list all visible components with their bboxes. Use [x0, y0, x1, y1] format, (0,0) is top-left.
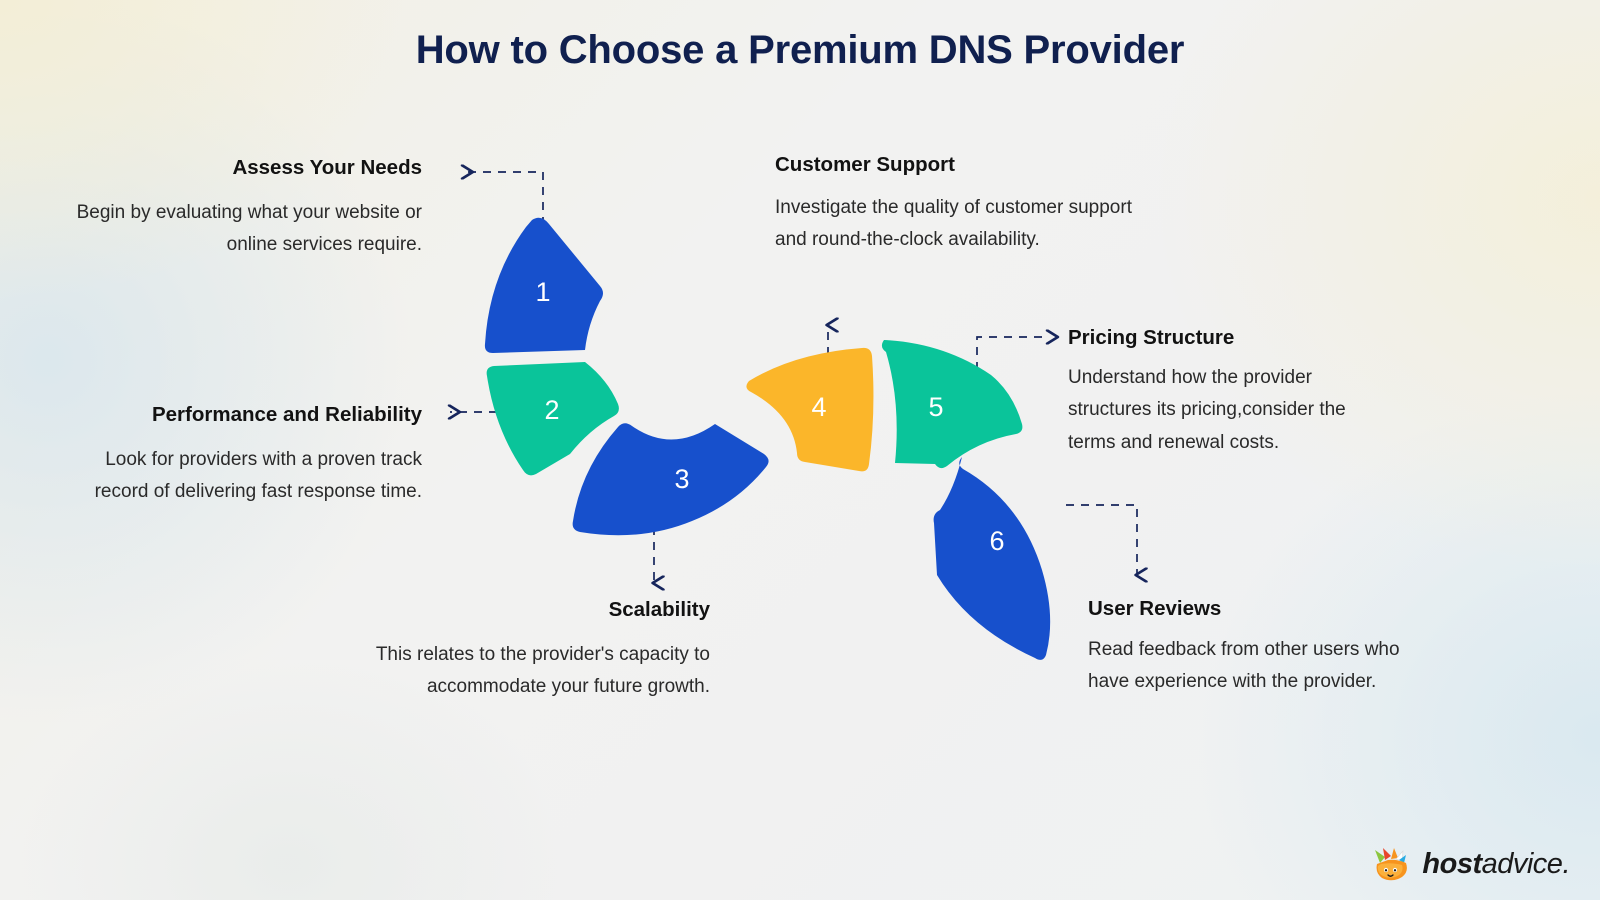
step-body-1: Begin by evaluating what your website or… [70, 197, 422, 262]
step-text-1: Assess Your Needs Begin by evaluating wh… [70, 156, 422, 262]
step-heading-2: Performance and Reliability [60, 403, 422, 428]
step-heading-4: Customer Support [775, 153, 1165, 178]
step-heading-6: User Reviews [1088, 597, 1438, 622]
fox-mascot-icon [1371, 846, 1413, 882]
step-segment-4-shape[interactable] [746, 348, 873, 471]
step-segment-3-number: 3 [674, 464, 689, 494]
step-body-2: Look for providers with a proven track r… [60, 444, 422, 509]
step-segment-4-number: 4 [811, 392, 826, 422]
connector-step-1 [463, 172, 543, 225]
step-segment-4[interactable]: 4 [746, 348, 873, 471]
logo-brand-light: advice. [1482, 848, 1570, 880]
step-heading-1: Assess Your Needs [70, 156, 422, 181]
step-segment-6-number: 6 [989, 526, 1004, 556]
step-segment-1-number: 1 [535, 277, 550, 307]
step-text-5: Pricing Structure Understand how the pro… [1068, 326, 1398, 460]
step-text-2: Performance and Reliability Look for pro… [60, 403, 422, 509]
step-segment-6-shape[interactable] [934, 457, 1051, 660]
step-body-3: This relates to the provider's capacity … [372, 639, 710, 704]
step-body-5: Understand how the provider structures i… [1068, 362, 1398, 460]
step-heading-5: Pricing Structure [1068, 326, 1398, 351]
step-segment-3[interactable]: 3 [573, 423, 769, 535]
logo-wordmark: hostadvice. [1422, 848, 1570, 881]
step-segment-5-number: 5 [928, 392, 943, 422]
step-segment-6[interactable]: 6 [934, 457, 1051, 660]
step-body-4: Investigate the quality of customer supp… [775, 192, 1165, 257]
step-segment-5-shape[interactable] [882, 340, 1022, 468]
step-text-6: User Reviews Read feedback from other us… [1088, 597, 1438, 699]
step-segment-2-number: 2 [544, 395, 559, 425]
step-text-4: Customer Support Investigate the quality… [775, 153, 1165, 257]
step-body-6: Read feedback from other users who have … [1088, 634, 1438, 699]
step-segment-3-shape[interactable] [573, 423, 769, 535]
step-segment-5[interactable]: 5 [882, 340, 1022, 468]
infographic-canvas: How to Choose a Premium DNS Provider [0, 0, 1600, 900]
step-text-3: Scalability This relates to the provider… [372, 598, 710, 704]
logo-brand-bold: host [1422, 848, 1481, 880]
hostadvice-logo[interactable]: hostadvice. [1371, 846, 1570, 882]
connector-step-6 [1066, 505, 1137, 575]
step-segment-1[interactable]: 1 [485, 218, 603, 353]
step-heading-3: Scalability [372, 598, 710, 623]
